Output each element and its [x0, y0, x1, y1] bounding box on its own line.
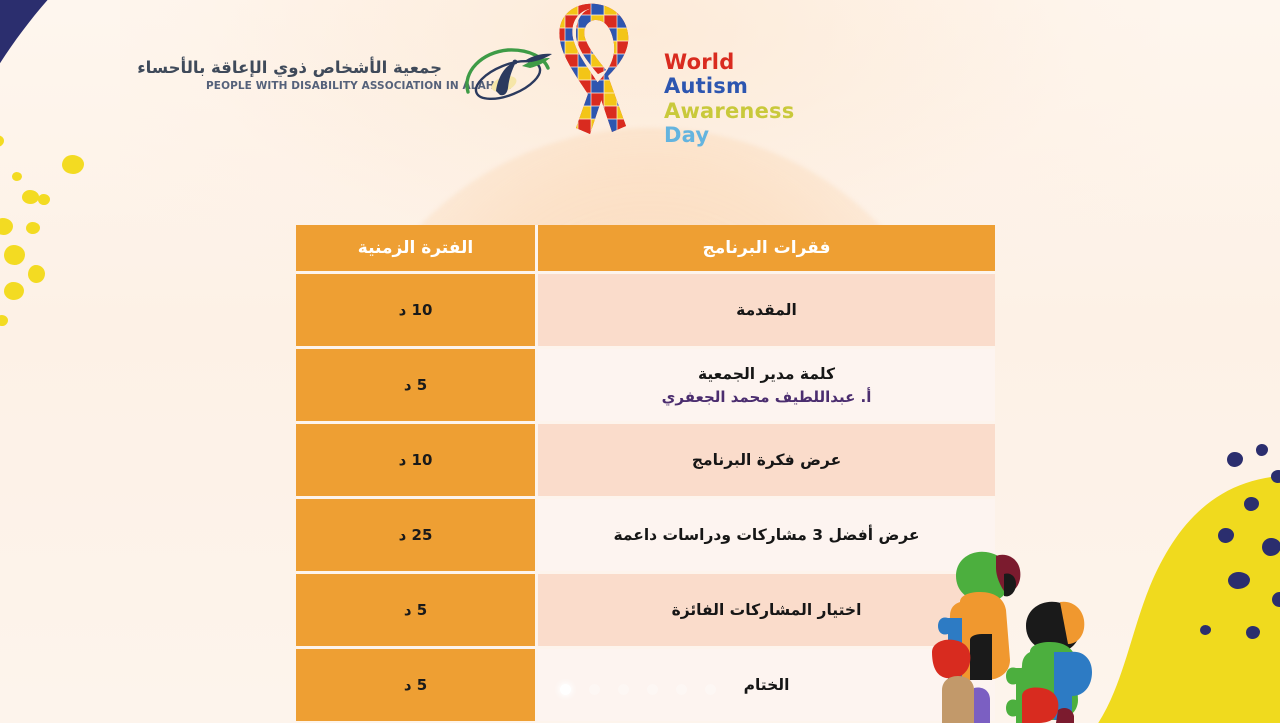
yellow-dot: [38, 194, 50, 205]
pagination-dot-3[interactable]: [618, 684, 629, 695]
column-header-program-items: فقرات البرنامج: [535, 225, 995, 274]
association-swirl-logo-icon: [452, 36, 568, 116]
table-row: عرض فكرة البرنامج 10 د: [296, 424, 995, 499]
cell-program-item: المقدمة: [535, 274, 995, 349]
yellow-dot: [22, 190, 39, 204]
item-title: عرض أفضل 3 مشاركات ودراسات داعمة: [548, 526, 985, 544]
navy-dot: [1272, 592, 1280, 607]
item-title: المقدمة: [548, 301, 985, 319]
cell-time-period: 5 د: [296, 349, 535, 424]
association-name-english: PEOPLE WITH DISABILITY ASSOCIATION IN AL…: [206, 80, 442, 92]
program-schedule-table: فقرات البرنامج الفترة الزمنية المقدمة 10…: [296, 225, 995, 723]
slide-pagination[interactable]: [560, 679, 760, 699]
campaign-line-autism: Autism: [664, 74, 794, 98]
pagination-dot-1[interactable]: [560, 684, 571, 695]
yellow-dot: [4, 245, 25, 265]
item-title: اختيار المشاركات الفائزة: [548, 601, 985, 619]
presentation-slide: جمعية الأشخاص ذوي الإعاقة بالأحساء PEOPL…: [0, 0, 1280, 723]
yellow-dot: [26, 222, 40, 234]
cell-time-period: 25 د: [296, 499, 535, 574]
cell-time-period: 5 د: [296, 649, 535, 723]
table-row: عرض أفضل 3 مشاركات ودراسات داعمة 25 د: [296, 499, 995, 574]
yellow-dot: [4, 282, 24, 300]
navy-dot: [1271, 470, 1280, 483]
campaign-line-awareness: Awareness: [664, 99, 794, 123]
campaign-line-world: World: [664, 50, 794, 74]
association-logo-text: جمعية الأشخاص ذوي الإعاقة بالأحساء PEOPL…: [206, 58, 442, 92]
association-name-arabic: جمعية الأشخاص ذوي الإعاقة بالأحساء: [206, 58, 442, 77]
cell-program-item: عرض فكرة البرنامج: [535, 424, 995, 499]
table-row: كلمة مدير الجمعية أ. عبداللطيف محمد الجع…: [296, 349, 995, 424]
pagination-dot-2[interactable]: [589, 684, 600, 695]
cell-program-item: اختيار المشاركات الفائزة: [535, 574, 995, 649]
item-title: كلمة مدير الجمعية: [548, 365, 985, 383]
cell-time-period: 10 د: [296, 424, 535, 499]
autism-puzzle-people-illustration: [930, 540, 1160, 723]
campaign-line-day: Day: [664, 123, 794, 147]
autism-puzzle-ribbon-icon: [552, 2, 657, 142]
pagination-dot-5[interactable]: [676, 684, 687, 695]
slide-header: جمعية الأشخاص ذوي الإعاقة بالأحساء PEOPL…: [0, 0, 1280, 155]
table-row: المقدمة 10 د: [296, 274, 995, 349]
table-header-row: فقرات البرنامج الفترة الزمنية: [296, 225, 995, 274]
yellow-dot: [28, 265, 45, 283]
pagination-dot-6[interactable]: [705, 684, 716, 695]
yellow-dot: [62, 155, 84, 174]
campaign-title: World Autism Awareness Day: [664, 50, 794, 147]
cell-time-period: 10 د: [296, 274, 535, 349]
navy-dot: [1262, 538, 1280, 556]
pagination-dot-4[interactable]: [647, 684, 658, 695]
cell-program-item: كلمة مدير الجمعية أ. عبداللطيف محمد الجع…: [535, 349, 995, 424]
yellow-dot: [12, 172, 22, 181]
cell-time-period: 5 د: [296, 574, 535, 649]
column-header-time-period: الفترة الزمنية: [296, 225, 535, 274]
item-speaker-name: أ. عبداللطيف محمد الجعفري: [548, 388, 985, 406]
item-title: عرض فكرة البرنامج: [548, 451, 985, 469]
table-row: اختيار المشاركات الفائزة 5 د: [296, 574, 995, 649]
cell-program-item: عرض أفضل 3 مشاركات ودراسات داعمة: [535, 499, 995, 574]
